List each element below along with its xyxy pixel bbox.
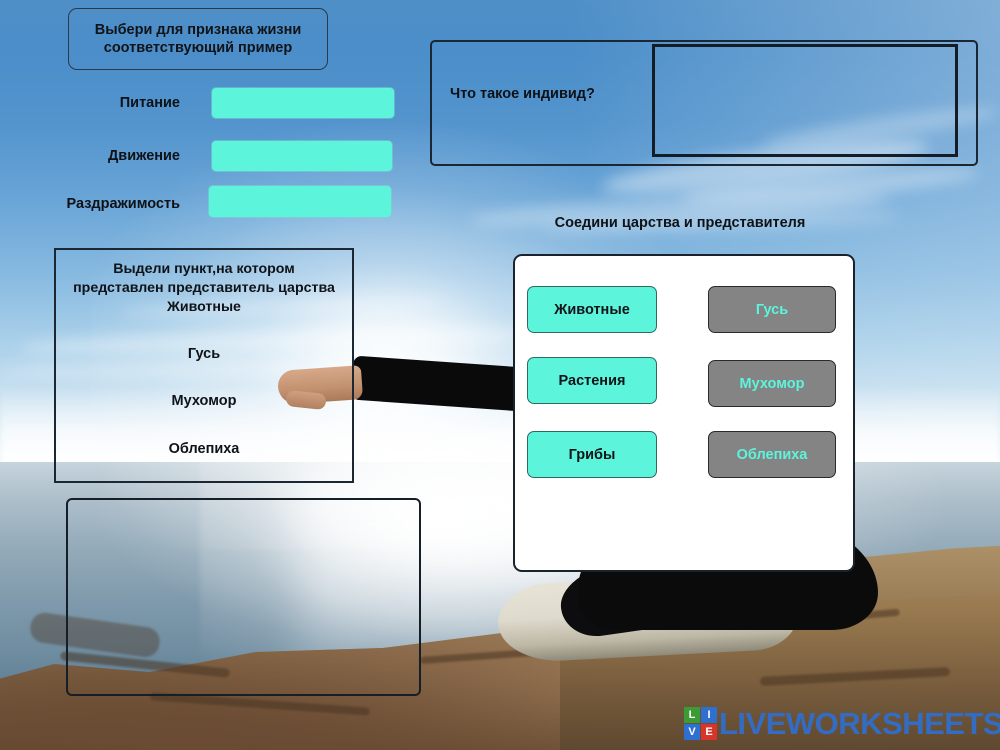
- logo-tile-i: I: [701, 707, 717, 723]
- task2-question: Что такое индивид?: [450, 86, 595, 102]
- task4-right-gus[interactable]: Гусь: [708, 286, 836, 333]
- liveworksheets-watermark: L I V E LIVEWORKSHEETS: [684, 707, 1000, 740]
- task1-dropdown-razdrazhimost[interactable]: [209, 186, 391, 217]
- logo-tile-e: E: [701, 724, 717, 740]
- task3-heading: Выдели пункт,на котором представлен пред…: [70, 260, 338, 318]
- task3-option-muhomor[interactable]: Мухомор: [70, 393, 338, 409]
- liveworksheets-logo-icon: L I V E: [684, 707, 717, 740]
- task5-answer-input[interactable]: [66, 498, 421, 696]
- task1-dropdown-pitanie[interactable]: [212, 88, 394, 118]
- task4-title: Соедини царства и представителя: [530, 215, 830, 231]
- task2-answer-input[interactable]: [652, 44, 958, 157]
- task3-option-oblepiha[interactable]: Облепиха: [70, 441, 338, 457]
- task3-option-gus[interactable]: Гусь: [70, 346, 338, 362]
- task1-label-pitanie: Питание: [0, 95, 180, 111]
- task4-right-muhomor[interactable]: Мухомор: [708, 360, 836, 407]
- task1-label-dvizhenie: Движение: [0, 148, 180, 164]
- logo-tile-v: V: [684, 724, 700, 740]
- task1-label-razdrazhimost: Раздражимость: [0, 196, 180, 212]
- task4-left-zhivotnye[interactable]: Животные: [527, 286, 657, 333]
- task4-left-griby[interactable]: Грибы: [527, 431, 657, 478]
- worksheet-page: Выбери для признака жизни соответствующи…: [0, 0, 1000, 750]
- task1-dropdown-dvizhenie[interactable]: [212, 141, 392, 171]
- task1-title: Выбери для признака жизни соответствующи…: [68, 8, 328, 70]
- task4-right-oblepiha[interactable]: Облепиха: [708, 431, 836, 478]
- task4-left-rasteniya[interactable]: Растения: [527, 357, 657, 404]
- watermark-text: LIVEWORKSHEETS: [719, 708, 1000, 739]
- logo-tile-l: L: [684, 707, 700, 723]
